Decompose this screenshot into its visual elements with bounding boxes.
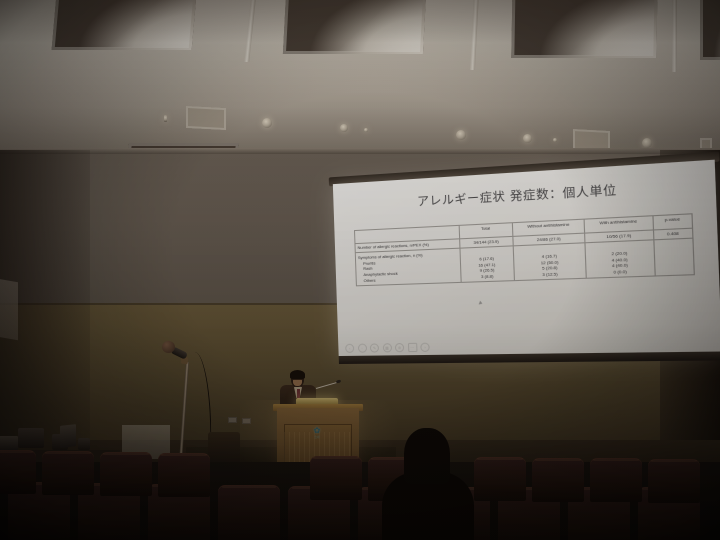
speaker-tie (297, 389, 300, 398)
chair (590, 458, 642, 502)
av-equipment-unit (78, 438, 90, 450)
prev-slide-icon[interactable]: ‹ (345, 344, 354, 353)
chair (474, 457, 526, 501)
more-options-icon[interactable]: ⋯ (407, 343, 416, 352)
chair (0, 450, 36, 494)
symptoms-total-cell: 6 (17.6) 16 (47.1) 9 (26.5) 3 (8.8) (459, 246, 514, 282)
pointer-icon[interactable]: ◦ (357, 344, 366, 353)
chair (648, 459, 700, 503)
audience-seating-area (0, 462, 720, 540)
audience-member-head (404, 428, 450, 484)
chair (158, 453, 210, 497)
slide-title: アレルギー症状 発症数：個人単位 (333, 175, 716, 214)
screen-surface: アレルギー症状 発症数：個人単位 Total Without antihista… (333, 160, 720, 358)
presentation-slide: アレルギー症状 発症数：個人単位 Total Without antihista… (333, 160, 720, 358)
slide-data-table: Total Without antihistamine With antihis… (354, 213, 695, 286)
symptoms-label-cell: Symptoms of allergic reaction, n (%) Pru… (355, 249, 460, 287)
speaker-glasses (292, 379, 303, 383)
auditorium-photo: アレルギー症状 発症数：個人単位 Total Without antihista… (0, 0, 720, 540)
zoom-icon[interactable]: ⊕ (395, 343, 404, 352)
presenter-toolbar: ‹ ◦ ✎ ▦ ⊕ ⋯ › (345, 343, 430, 353)
pen-icon[interactable]: ✎ (370, 343, 379, 352)
projection-screen: アレルギー症状 発症数：個人単位 Total Without antihista… (333, 160, 720, 370)
chair (42, 451, 94, 495)
mouse-cursor-icon (479, 301, 483, 306)
av-monitor (60, 424, 76, 448)
left-wall-panel (0, 278, 18, 341)
grid-icon[interactable]: ▦ (382, 343, 391, 352)
microphone-windscreen (162, 341, 175, 353)
wall-outlet (228, 417, 237, 423)
next-slide-icon[interactable]: › (420, 343, 430, 352)
wall-outlet (242, 418, 251, 424)
chair (218, 485, 280, 540)
coffered-ceiling (0, 0, 720, 152)
stage-chair (208, 432, 240, 466)
symptoms-p-value-cell (653, 239, 694, 277)
chair (532, 458, 584, 502)
chair (100, 452, 152, 496)
chair (310, 456, 362, 500)
symptom-total-others: 3 (8.8) (463, 273, 512, 281)
av-monitor (0, 436, 18, 450)
wall-cornice (0, 148, 720, 154)
av-equipment-unit (18, 428, 44, 448)
symptoms-with-antihistamine-cell: 2 (20.0) 4 (40.0) 4 (40.0) 0 (0.0) (585, 240, 654, 278)
symptom-with-others: 0 (0.0) (589, 268, 652, 276)
symptoms-without-antihistamine-cell: 4 (16.7) 12 (50.0) 5 (20.8) 3 (12.5) (513, 243, 586, 281)
speaker-hair (290, 370, 305, 379)
venue-emblem-caption: 会場 (303, 435, 331, 439)
symptom-wo-others: 3 (12.5) (517, 270, 584, 278)
